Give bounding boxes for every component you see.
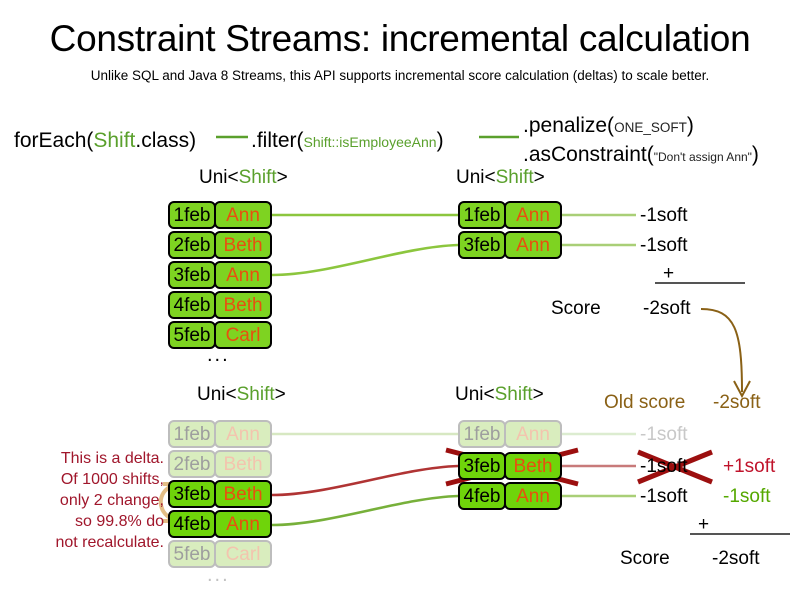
shift-date: 1feb [168,201,216,229]
shift-employee: Ann [214,201,272,229]
penalty-value: -1soft [640,235,688,257]
sum-plus-sign: + [698,514,709,536]
penalty-value: -1soft [640,205,688,227]
shift-date: 1feb [458,420,506,448]
shift-card-changed[interactable]: 4feb Ann [168,510,272,538]
shift-card[interactable]: 3feb Ann [458,231,562,259]
page-title: Constraint Streams: incremental calculat… [0,18,800,60]
penalize-arg: ONE_SOFT [614,120,687,135]
delta-note-line: not recalculate. [4,532,164,553]
shift-employee: Ann [504,231,562,259]
delta-note-line: only 2 change, [4,490,164,511]
shift-date: 2feb [168,450,216,478]
pipeline-foreach: forEach(Shift.class) [14,129,196,153]
shift-card-changed[interactable]: 3feb Beth [168,480,272,508]
penalty-delta-negative: -1soft [723,486,771,508]
uni-close: > [275,384,286,405]
uni-label-filtered-bottom: Uni<Shift> [455,384,544,406]
shift-card[interactable]: 1feb Ann [458,201,562,229]
shift-employee: Ann [504,420,562,448]
shift-employee: Beth [214,450,272,478]
shift-card-changed[interactable]: 4feb Ann [458,482,562,510]
penalty-value-muted: -1soft [640,424,688,446]
penalize-prefix: .penalize( [523,114,614,137]
score-label: Score [620,548,670,570]
shift-date: 3feb [168,480,216,508]
list-ellipsis: ... [207,344,230,367]
shift-employee: Ann [214,420,272,448]
shift-date: 2feb [168,231,216,259]
uni-open: Uni< [199,167,239,188]
uni-type: Shift [237,384,275,405]
shift-employee: Beth [214,231,272,259]
slide-canvas: Constraint Streams: incremental calculat… [0,0,800,600]
shift-date: 4feb [458,482,506,510]
shift-date: 3feb [458,452,506,480]
page-subtitle: Unlike SQL and Java 8 Streams, this API … [0,68,800,83]
filter-suffix: ) [437,129,444,152]
uni-open: Uni< [456,167,496,188]
delta-note-line: This is a delta. [4,448,164,469]
foreach-prefix: forEach( [14,129,93,152]
bottom-connector-3feb [272,466,458,495]
shift-employee: Ann [504,482,562,510]
old-score-label: Old score [604,392,685,414]
uni-close: > [533,384,544,405]
shift-card[interactable]: 4feb Beth [168,291,272,319]
asconstraint-arg: "Don't assign Ann" [654,150,752,164]
pipeline-penalize: .penalize(ONE_SOFT) [523,114,694,138]
top-connector-3feb [272,245,458,275]
uni-label-filtered-top: Uni<Shift> [456,167,545,189]
shift-card-retracted[interactable]: 3feb Beth [458,452,562,480]
pipeline-filter: .filter(Shift::isEmployeeAnn) [251,129,444,153]
delta-note-line: Of 1000 shifts, [4,469,164,490]
shift-date: 4feb [168,510,216,538]
shift-employee: Beth [214,480,272,508]
old-score-arrow [701,309,742,392]
score-label: Score [551,298,601,320]
shift-card[interactable]: 3feb Ann [168,261,272,289]
uni-close: > [534,167,545,188]
sum-plus-sign: + [663,263,674,285]
shift-date: 3feb [458,231,506,259]
penalize-suffix: ) [687,114,694,137]
shift-card[interactable]: 2feb Beth [168,450,272,478]
uni-type: Shift [496,167,534,188]
shift-employee: Beth [504,452,562,480]
uni-type: Shift [239,167,277,188]
shift-card[interactable]: 2feb Beth [168,231,272,259]
shift-date: 1feb [168,420,216,448]
shift-card[interactable]: 1feb Ann [168,201,272,229]
old-score-value: -2soft [713,392,761,414]
asconstraint-prefix: .asConstraint( [523,143,654,166]
uni-label-source-top: Uni<Shift> [199,167,288,189]
shift-employee: Beth [214,291,272,319]
delta-note: This is a delta. Of 1000 shifts, only 2 … [4,448,164,553]
shift-employee: Ann [214,261,272,289]
uni-label-source-bottom: Uni<Shift> [197,384,286,406]
foreach-suffix: .class) [135,129,196,152]
score-total: -2soft [712,548,760,570]
shift-date: 1feb [458,201,506,229]
bottom-connector-4feb [272,496,458,525]
penalty-value-retracted: -1soft [640,456,688,478]
list-ellipsis: ... [207,564,230,587]
penalty-delta-positive: +1soft [723,456,775,478]
shift-card[interactable]: 1feb Ann [168,420,272,448]
uni-open: Uni< [197,384,237,405]
shift-employee: Ann [504,201,562,229]
foreach-type: Shift [93,129,135,152]
filter-arg: Shift::isEmployeeAnn [304,134,437,150]
delta-note-line: so 99.8% do [4,511,164,532]
filter-prefix: .filter( [251,129,304,152]
penalty-value: -1soft [640,486,688,508]
score-total: -2soft [643,298,691,320]
pipeline-asconstraint: .asConstraint("Don't assign Ann") [523,143,759,167]
uni-close: > [277,167,288,188]
shift-employee: Ann [214,510,272,538]
asconstraint-suffix: ) [752,143,759,166]
uni-open: Uni< [455,384,495,405]
uni-type: Shift [495,384,533,405]
shift-date: 4feb [168,291,216,319]
shift-card[interactable]: 1feb Ann [458,420,562,448]
shift-date: 3feb [168,261,216,289]
